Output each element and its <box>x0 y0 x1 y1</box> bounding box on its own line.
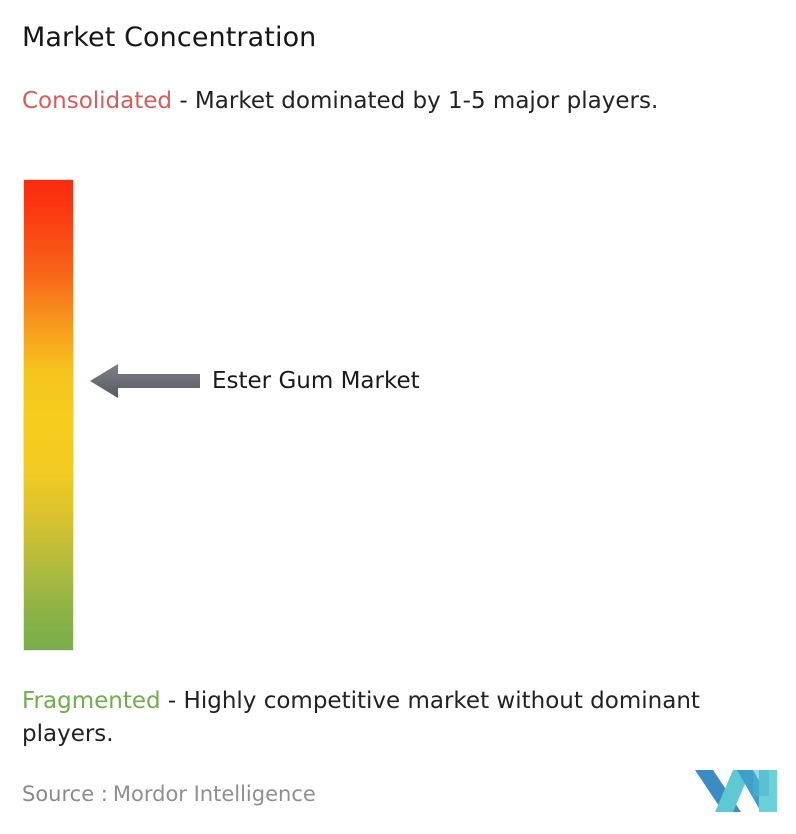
market-marker-label: Ester Gum Market <box>212 366 420 396</box>
left-arrow-icon <box>90 361 200 401</box>
mordor-intelligence-logo <box>693 766 781 816</box>
legend-consolidated: Consolidated - Market dominated by 1-5 m… <box>22 85 774 118</box>
source-label: Source : <box>22 782 108 806</box>
concentration-gradient-bar <box>24 180 73 650</box>
legend-fragmented: Fragmented - Highly competitive market w… <box>22 685 784 751</box>
market-marker: Ester Gum Market <box>90 358 420 404</box>
source-line: Source :Mordor Intelligence <box>22 780 316 808</box>
legend-fragmented-keyword: Fragmented <box>22 688 161 714</box>
legend-consolidated-description: - Market dominated by 1-5 major players. <box>172 88 658 114</box>
source-name: Mordor Intelligence <box>113 782 316 806</box>
legend-consolidated-keyword: Consolidated <box>22 88 172 114</box>
page-title: Market Concentration <box>22 20 316 56</box>
market-concentration-figure: Market Concentration Consolidated - Mark… <box>0 0 796 834</box>
